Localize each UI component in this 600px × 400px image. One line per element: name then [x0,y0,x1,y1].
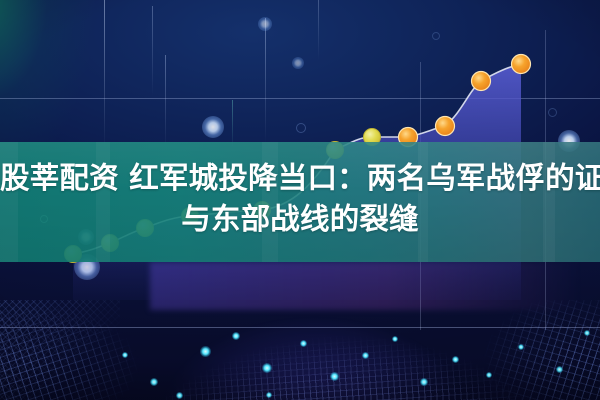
headline-line-1: 股莘配资 红军城投降当口：两名乌军战俘的证词 [0,161,600,195]
headline-line-2: 与东部战线的裂缝 [0,199,600,240]
banner-image: 股莘配资 红军城投降当口：两名乌军战俘的证词 与东部战线的裂缝 [0,0,600,400]
headline: 股莘配资 红军城投降当口：两名乌军战俘的证词 与东部战线的裂缝 [0,158,600,240]
